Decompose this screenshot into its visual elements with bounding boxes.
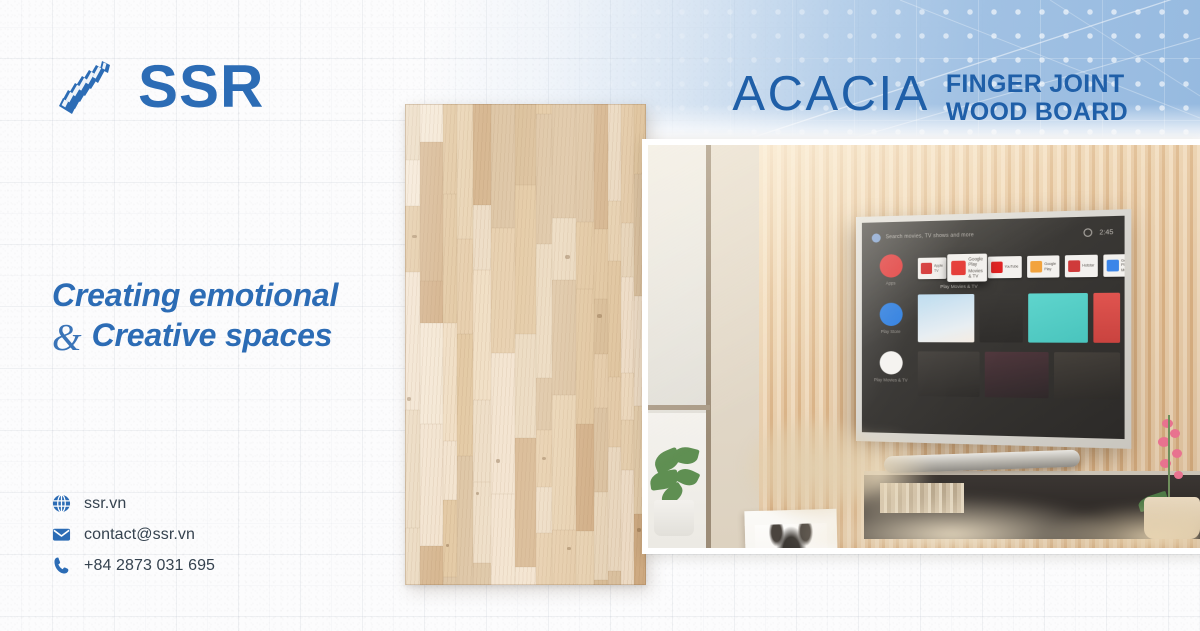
wood-block (473, 563, 491, 585)
wood-knot (637, 528, 641, 531)
wood-block (536, 114, 552, 244)
tv-app-row: Apple TVGoogle Play Movies & TVYouTubeGo… (918, 254, 1120, 279)
wood-block (536, 244, 552, 378)
wood-block (536, 378, 552, 430)
envelope-icon (52, 525, 71, 544)
wood-block (594, 104, 608, 229)
wood-knot (496, 459, 501, 463)
tv-sidebar-icon (879, 254, 902, 278)
wood-block (536, 430, 552, 487)
wood-block (608, 377, 621, 447)
tv-content-card[interactable] (1029, 293, 1088, 343)
wood-block (634, 174, 646, 296)
wood-strip (443, 104, 457, 585)
wood-block (594, 408, 608, 492)
wood-block (405, 528, 420, 585)
wood-knot (412, 235, 416, 238)
wood-block (608, 201, 621, 261)
wood-block (515, 567, 536, 585)
wood-strip (634, 104, 646, 585)
tv-app-icon (1107, 260, 1119, 272)
product-subtitle-line1: FINGER JOINT (946, 70, 1125, 98)
wood-block (491, 104, 515, 228)
tv-top-bar: Search movies, TV shows and more 2:45 (872, 225, 1114, 245)
gear-icon[interactable] (1084, 228, 1093, 237)
tv-app-name: Google Play (1044, 262, 1056, 271)
wood-block (473, 400, 491, 482)
wood-block (634, 104, 646, 174)
wood-block (552, 104, 576, 218)
wood-strip (608, 104, 621, 585)
wood-block (608, 447, 621, 571)
wood-knot (446, 544, 449, 547)
product-title-block: ACACIA FINGER JOINT WOOD BOARD (732, 70, 1128, 128)
foreground-blur-objects (648, 381, 1200, 548)
product-name: ACACIA (732, 70, 929, 119)
wood-block (457, 239, 473, 334)
contact-website-value: ssr.vn (84, 495, 126, 513)
wood-block (576, 222, 594, 289)
wood-block (594, 299, 608, 354)
tv-sidebar-label: Play Store (881, 329, 901, 334)
tv-app-icon (951, 261, 966, 276)
wood-strip (576, 104, 594, 585)
tv-app-name: Apple TV (934, 264, 943, 273)
tv-app-tile[interactable]: Google Play Movies & TV (947, 254, 987, 282)
wood-block (594, 229, 608, 299)
wood-block (552, 218, 576, 280)
tv-content-card[interactable] (918, 294, 974, 342)
wood-block (608, 104, 621, 201)
ssr-horse-mark-icon (58, 59, 124, 115)
tv-content-card[interactable] (1093, 293, 1120, 343)
wood-strip (552, 104, 576, 585)
logo-wordmark: SSR (138, 57, 264, 117)
wood-block (594, 492, 608, 580)
wood-block (634, 406, 646, 514)
wood-block (608, 261, 621, 377)
wood-board-sample (405, 104, 646, 585)
wood-block (594, 580, 608, 585)
tv-selected-app-label: Play Movies & TV (940, 284, 977, 290)
wood-block (491, 353, 515, 494)
wood-block (515, 334, 536, 438)
contact-email-value: contact@ssr.vn (84, 526, 195, 544)
wood-block (621, 277, 634, 373)
contact-website[interactable]: ssr.vn (52, 494, 215, 513)
wood-knot (542, 457, 546, 460)
contact-phone-value: +84 2873 031 695 (84, 557, 215, 575)
wood-block (405, 104, 420, 160)
wood-knot (476, 492, 480, 495)
wood-block (420, 424, 443, 546)
phone-icon (52, 556, 71, 575)
wood-block (536, 104, 552, 114)
wood-block (457, 334, 473, 456)
wood-block (473, 482, 491, 563)
tv-search-hint: Search movies, TV shows and more (886, 232, 974, 240)
wood-block (576, 104, 594, 222)
wood-block (621, 223, 634, 277)
tv-app-tile[interactable]: Hotstar (1065, 255, 1098, 278)
wood-block (443, 441, 457, 500)
wood-block (491, 494, 515, 585)
wood-block (457, 456, 473, 585)
wood-block (552, 395, 576, 530)
wood-block (443, 577, 457, 585)
wood-block (621, 420, 634, 470)
wood-strip (420, 104, 443, 585)
tv-app-icon (921, 263, 932, 274)
wood-strip (491, 104, 515, 585)
tv-app-name: Hotstar (1082, 264, 1094, 269)
wood-knot (407, 397, 411, 400)
tv-sidebar-icon (879, 351, 902, 374)
wood-block (443, 323, 457, 441)
wood-block (515, 104, 536, 185)
wood-block (536, 487, 552, 533)
contact-phone[interactable]: +84 2873 031 695 (52, 556, 215, 575)
tv-app-icon (991, 262, 1003, 274)
wood-block (552, 530, 576, 585)
wood-block (405, 410, 420, 528)
tagline-ampersand: & (52, 319, 82, 357)
microphone-icon (872, 233, 881, 242)
tv-search-row[interactable]: Search movies, TV shows and more (872, 231, 974, 243)
wood-block (443, 104, 457, 194)
tv-sidebar-item[interactable]: Play Store (879, 303, 902, 334)
tv-clock: 2:45 (1099, 228, 1113, 236)
wood-block (443, 500, 457, 577)
contact-email[interactable]: contact@ssr.vn (52, 525, 215, 544)
wood-strip (621, 104, 634, 585)
wood-board-strips (405, 104, 646, 585)
tagline-block: Creating emotional & Creative spaces (52, 277, 412, 355)
wood-strip (536, 104, 552, 585)
wood-block (420, 281, 443, 323)
brand-logo[interactable]: SSR (58, 57, 264, 117)
tv-app-tile[interactable]: Google Play Music (1103, 254, 1124, 277)
contact-block: ssr.vn contact@ssr.vn +84 2873 031 695 (52, 494, 215, 575)
tv-app-tile[interactable]: Google Play (1027, 255, 1059, 277)
tv-sidebar-icon (879, 303, 902, 326)
marketing-banner: SSR ACACIA FINGER JOINT WOOD BOARD Creat… (0, 0, 1200, 631)
wood-block (420, 142, 443, 281)
wood-block (405, 160, 420, 206)
wood-block (473, 205, 491, 270)
wood-block (536, 533, 552, 585)
wood-strip (515, 104, 536, 585)
wood-knot (567, 547, 570, 550)
tagline-line-2-row: & Creative spaces (52, 317, 412, 355)
wood-block (552, 280, 576, 395)
wood-block (594, 354, 608, 408)
tv-app-tile[interactable]: YouTube (988, 256, 1022, 278)
tv-app-icon (1068, 260, 1080, 272)
wood-block (576, 531, 594, 585)
tv-app-tile[interactable]: Apple TV (918, 257, 946, 279)
wood-knot (565, 255, 569, 258)
tv-content-card[interactable] (979, 294, 1023, 343)
wood-block (634, 514, 646, 585)
wood-block (405, 272, 420, 410)
tv-app-name: YouTube (1004, 265, 1018, 270)
wood-strip (473, 104, 491, 585)
wood-block (608, 571, 621, 585)
tv-content-row (918, 293, 1120, 343)
product-subtitle-line2: WOOD BOARD (946, 98, 1128, 126)
wood-block (515, 185, 536, 334)
wood-block (621, 470, 634, 585)
tv-status-row: 2:45 (1084, 228, 1114, 237)
room-photo: Search movies, TV shows and more 2:45 Ap… (648, 145, 1200, 548)
wood-block (576, 424, 594, 531)
wood-strip (594, 104, 608, 585)
wood-block (443, 194, 457, 323)
wood-strip (405, 104, 420, 585)
globe-icon (52, 494, 71, 513)
wood-block (473, 104, 491, 205)
tv-app-icon (1030, 261, 1042, 273)
tv-sidebar: AppsPlay StorePlay Movies & TV (870, 254, 912, 383)
wood-block (576, 289, 594, 424)
tv-sidebar-label: Apps (886, 281, 896, 286)
wood-block (420, 546, 443, 585)
wood-block (420, 323, 443, 424)
wood-block (405, 206, 420, 272)
wood-block (515, 438, 536, 567)
tv-app-name: Google Play Movies & TV (968, 256, 983, 279)
wood-block (621, 104, 634, 223)
tv-sidebar-item[interactable]: Play Movies & TV (874, 351, 908, 383)
wood-strip (457, 104, 473, 585)
wood-block (634, 296, 646, 406)
product-subtitle: FINGER JOINT WOOD BOARD (946, 70, 1128, 126)
tagline-line-1: Creating emotional (52, 277, 412, 314)
tv-sidebar-item[interactable]: Apps (879, 254, 902, 286)
wood-knot (597, 314, 602, 318)
wood-block (420, 104, 443, 142)
tv-app-name: Google Play Music (1121, 258, 1125, 272)
wood-block (491, 228, 515, 353)
wood-block (457, 104, 473, 239)
tagline-line-2: Creative spaces (92, 317, 333, 354)
wood-block (621, 373, 634, 420)
wood-block (473, 270, 491, 400)
